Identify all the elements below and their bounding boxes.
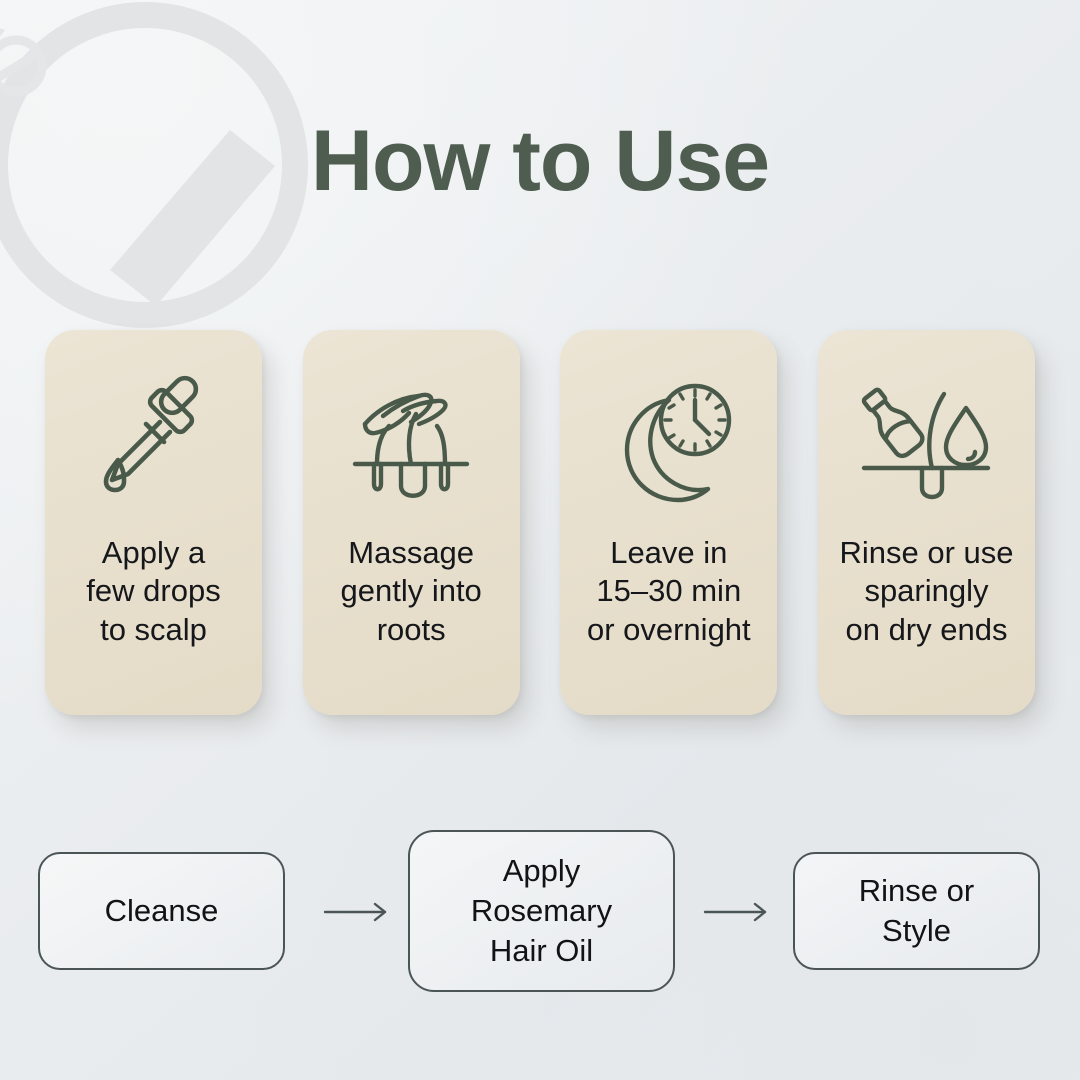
step-card-3: Leave in 15–30 min or overnight <box>560 330 777 715</box>
arrow-right-icon <box>323 902 393 922</box>
flow-box-rinse-style[interactable]: Rinse or Style <box>793 852 1040 970</box>
routine-flow: Cleanse Apply Rosemary Hair Oil Rinse or… <box>38 830 1042 992</box>
arrow-right-icon <box>703 902 773 922</box>
moon-clock-icon <box>599 368 739 508</box>
step-card-2-text: Massage gently into roots <box>313 534 509 649</box>
step-card-3-text: Leave in 15–30 min or overnight <box>571 534 767 649</box>
step-card-4: Rinse or use sparingly on dry ends <box>818 330 1035 715</box>
steps-row: Apply a few drops to scalp <box>45 330 1035 715</box>
step-card-1: Apply a few drops to scalp <box>45 330 262 715</box>
flow-box-cleanse[interactable]: Cleanse <box>38 852 285 970</box>
infographic-canvas: MIANA How to Use Apply a few drops to sc… <box>0 0 1080 1080</box>
step-card-4-text: Rinse or use sparingly on dry ends <box>828 534 1024 649</box>
step-card-2: Massage gently into roots <box>303 330 520 715</box>
dropper-icon <box>84 368 224 508</box>
hand-massage-follicles-icon <box>341 368 481 508</box>
flow-box-apply-oil[interactable]: Apply Rosemary Hair Oil <box>408 830 675 992</box>
page-title: How to Use <box>0 118 1080 204</box>
step-card-1-text: Apply a few drops to scalp <box>56 534 252 649</box>
bottle-follicle-drop-icon <box>856 368 996 508</box>
